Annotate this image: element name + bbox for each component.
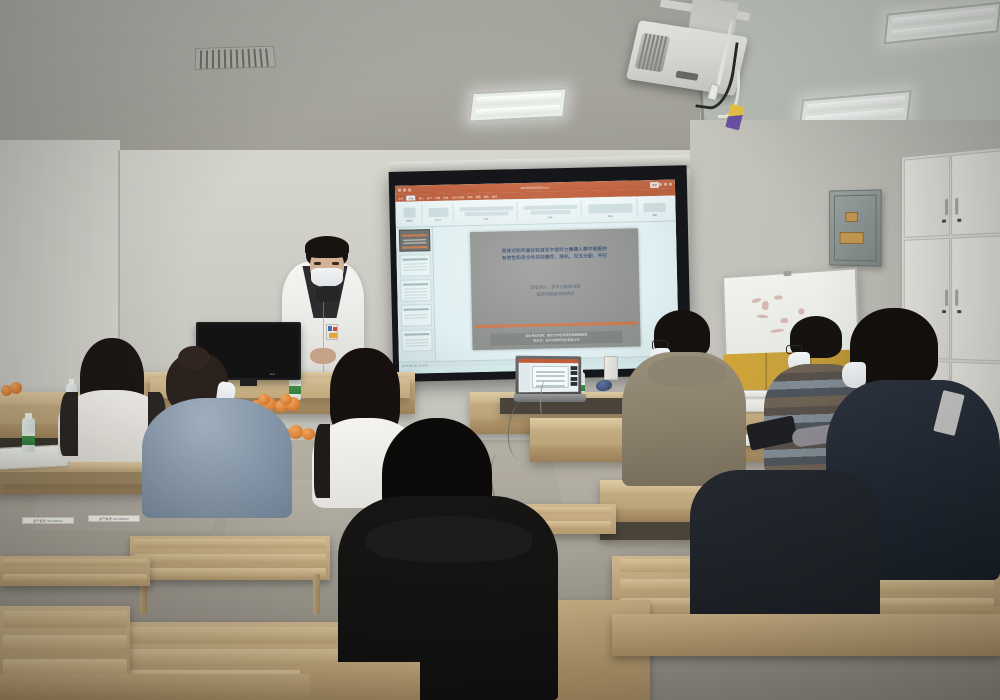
document-title: 临床试验启动前培训.pptx	[520, 185, 549, 190]
slide-subtitle: 双组设计、多中心临床试验 临床试验启动前培训	[475, 282, 635, 299]
presenter-eye-left	[314, 262, 321, 265]
slide-indicator: 幻灯片 第 1 张，共 24 张	[402, 363, 427, 368]
close-icon[interactable]	[669, 183, 672, 186]
attendee-2-hair-bun	[178, 346, 210, 370]
slide-thumbnail-5[interactable]	[401, 329, 432, 352]
redo-icon[interactable]	[408, 189, 411, 192]
slide-subtitle-line-1: 双组设计、多中心临床试验	[530, 284, 580, 290]
tab-insert[interactable]: 插入	[419, 196, 424, 200]
slide-title-line-1: 耳背式助听器在轻度至中度听力障碍人群中验配的	[502, 246, 608, 253]
bench-left-2	[0, 556, 150, 586]
projection-screen: 临床试验启动前培训.pptx 登录 文件 开始 插入 设计 切换 动画	[389, 165, 692, 382]
account-label[interactable]: 登录	[650, 181, 659, 187]
minimize-icon[interactable]	[659, 183, 662, 186]
slide-subtitle-line-2: 临床试验启动前培训	[537, 291, 575, 297]
undo-icon[interactable]	[403, 189, 406, 192]
tab-format[interactable]: 格式	[492, 194, 497, 198]
attendee-3-shoulder-dark	[314, 424, 330, 498]
slide-editing-area[interactable]: 耳背式助听器在轻度至中度听力障碍人群中验配的 有效性和安全性的前瞻性、随机、交叉…	[436, 224, 675, 355]
maximize-icon[interactable]	[664, 183, 667, 186]
powerpoint-window[interactable]: 临床试验启动前培训.pptx 登录 文件 开始 插入 设计 切换 动画	[395, 180, 679, 374]
desktop-speaker	[604, 356, 618, 380]
attendee-1-shoulder-dark	[60, 392, 78, 456]
water-bottle-1	[22, 418, 35, 452]
slide-thumbnail-4[interactable]	[401, 304, 432, 327]
tab-design[interactable]: 设计	[427, 196, 432, 200]
attendee-2-sweater	[142, 398, 292, 518]
slide-footer: 组长单位机构：南京大学医学院附属鼓楼医院 申办方：苏州市新声科技有限公司	[490, 330, 622, 345]
slide-title-line-2: 有效性和安全性的前瞻性、随机、交叉分配、平行	[502, 253, 608, 260]
ribbon-group-font[interactable]: 字体	[455, 201, 517, 221]
ribbon-group-drawing[interactable]: 绘图	[583, 198, 637, 218]
slide-footer-line-2: 申办方：苏州市新声科技有限公司	[533, 337, 579, 342]
ribbon-group-clipboard[interactable]: 剪贴板	[396, 203, 422, 223]
tab-slideshow[interactable]: 幻灯片放映	[451, 195, 464, 199]
save-icon[interactable]	[398, 189, 401, 192]
slide-thumbnail-3[interactable]	[400, 279, 431, 302]
attendee-5-hood	[648, 356, 726, 386]
bench-front-rail-left	[0, 674, 310, 700]
attendee-4-hood	[366, 516, 532, 562]
classroom-photo: Clinical Trial Kickoff Training Session …	[0, 0, 1000, 700]
bench-right-front-lower	[612, 614, 1000, 656]
tab-review[interactable]: 审阅	[467, 195, 472, 199]
slide-thumbnail-1[interactable]	[399, 229, 430, 252]
monitor-logo: ▰▰	[270, 372, 275, 376]
desk-label-2: 资产编号 00148622	[88, 515, 140, 522]
slide-title: 耳背式助听器在轻度至中度听力障碍人群中验配的 有效性和安全性的前瞻性、随机、交叉…	[474, 244, 634, 262]
wall-control-panel	[829, 189, 881, 266]
slide-thumbnail-panel[interactable]	[397, 227, 436, 368]
tab-file[interactable]: 文件	[398, 196, 403, 200]
presenter-eye-right	[332, 262, 339, 265]
presenter-hands	[310, 348, 336, 364]
presenter-collar	[316, 286, 340, 302]
ribbon-group-slides[interactable]: 幻灯片	[423, 203, 453, 223]
tab-help[interactable]: 帮助	[484, 194, 489, 198]
tab-home[interactable]: 开始	[406, 195, 415, 200]
air-vent-icon	[195, 46, 277, 70]
ribbon-group-editing[interactable]: 编辑	[639, 198, 669, 218]
presenter-hair-top	[305, 236, 349, 258]
slide-accent-rule	[475, 321, 637, 328]
screen-surface: 临床试验启动前培训.pptx 登录 文件 开始 插入 设计 切换 动画	[395, 180, 679, 374]
desk-label-1: 资产编号 00148621	[22, 517, 74, 524]
ceiling-light-panel-1	[468, 87, 568, 122]
bench-left-1	[130, 536, 330, 580]
id-badge	[326, 324, 338, 340]
bench-front-rail	[300, 662, 420, 700]
orange-pile-3	[1, 382, 35, 398]
tab-transitions[interactable]: 切换	[435, 195, 440, 199]
ribbon-group-paragraph[interactable]: 段落	[519, 200, 581, 220]
desk-left-underside	[0, 472, 160, 484]
slide-dots: · · ·	[472, 308, 640, 317]
tab-animations[interactable]: 动画	[443, 195, 448, 199]
slide-thumbnail-2[interactable]	[399, 254, 430, 277]
presenter-mask	[311, 268, 343, 287]
tab-view[interactable]: 视图	[475, 194, 480, 198]
powerpoint-body: 耳背式助听器在轻度至中度听力障碍人群中验配的 有效性和安全性的前瞻性、随机、交叉…	[396, 222, 679, 368]
current-slide[interactable]: 耳背式助听器在轻度至中度听力障碍人群中验配的 有效性和安全性的前瞻性、随机、交叉…	[470, 228, 641, 350]
projector-lens	[635, 33, 671, 73]
